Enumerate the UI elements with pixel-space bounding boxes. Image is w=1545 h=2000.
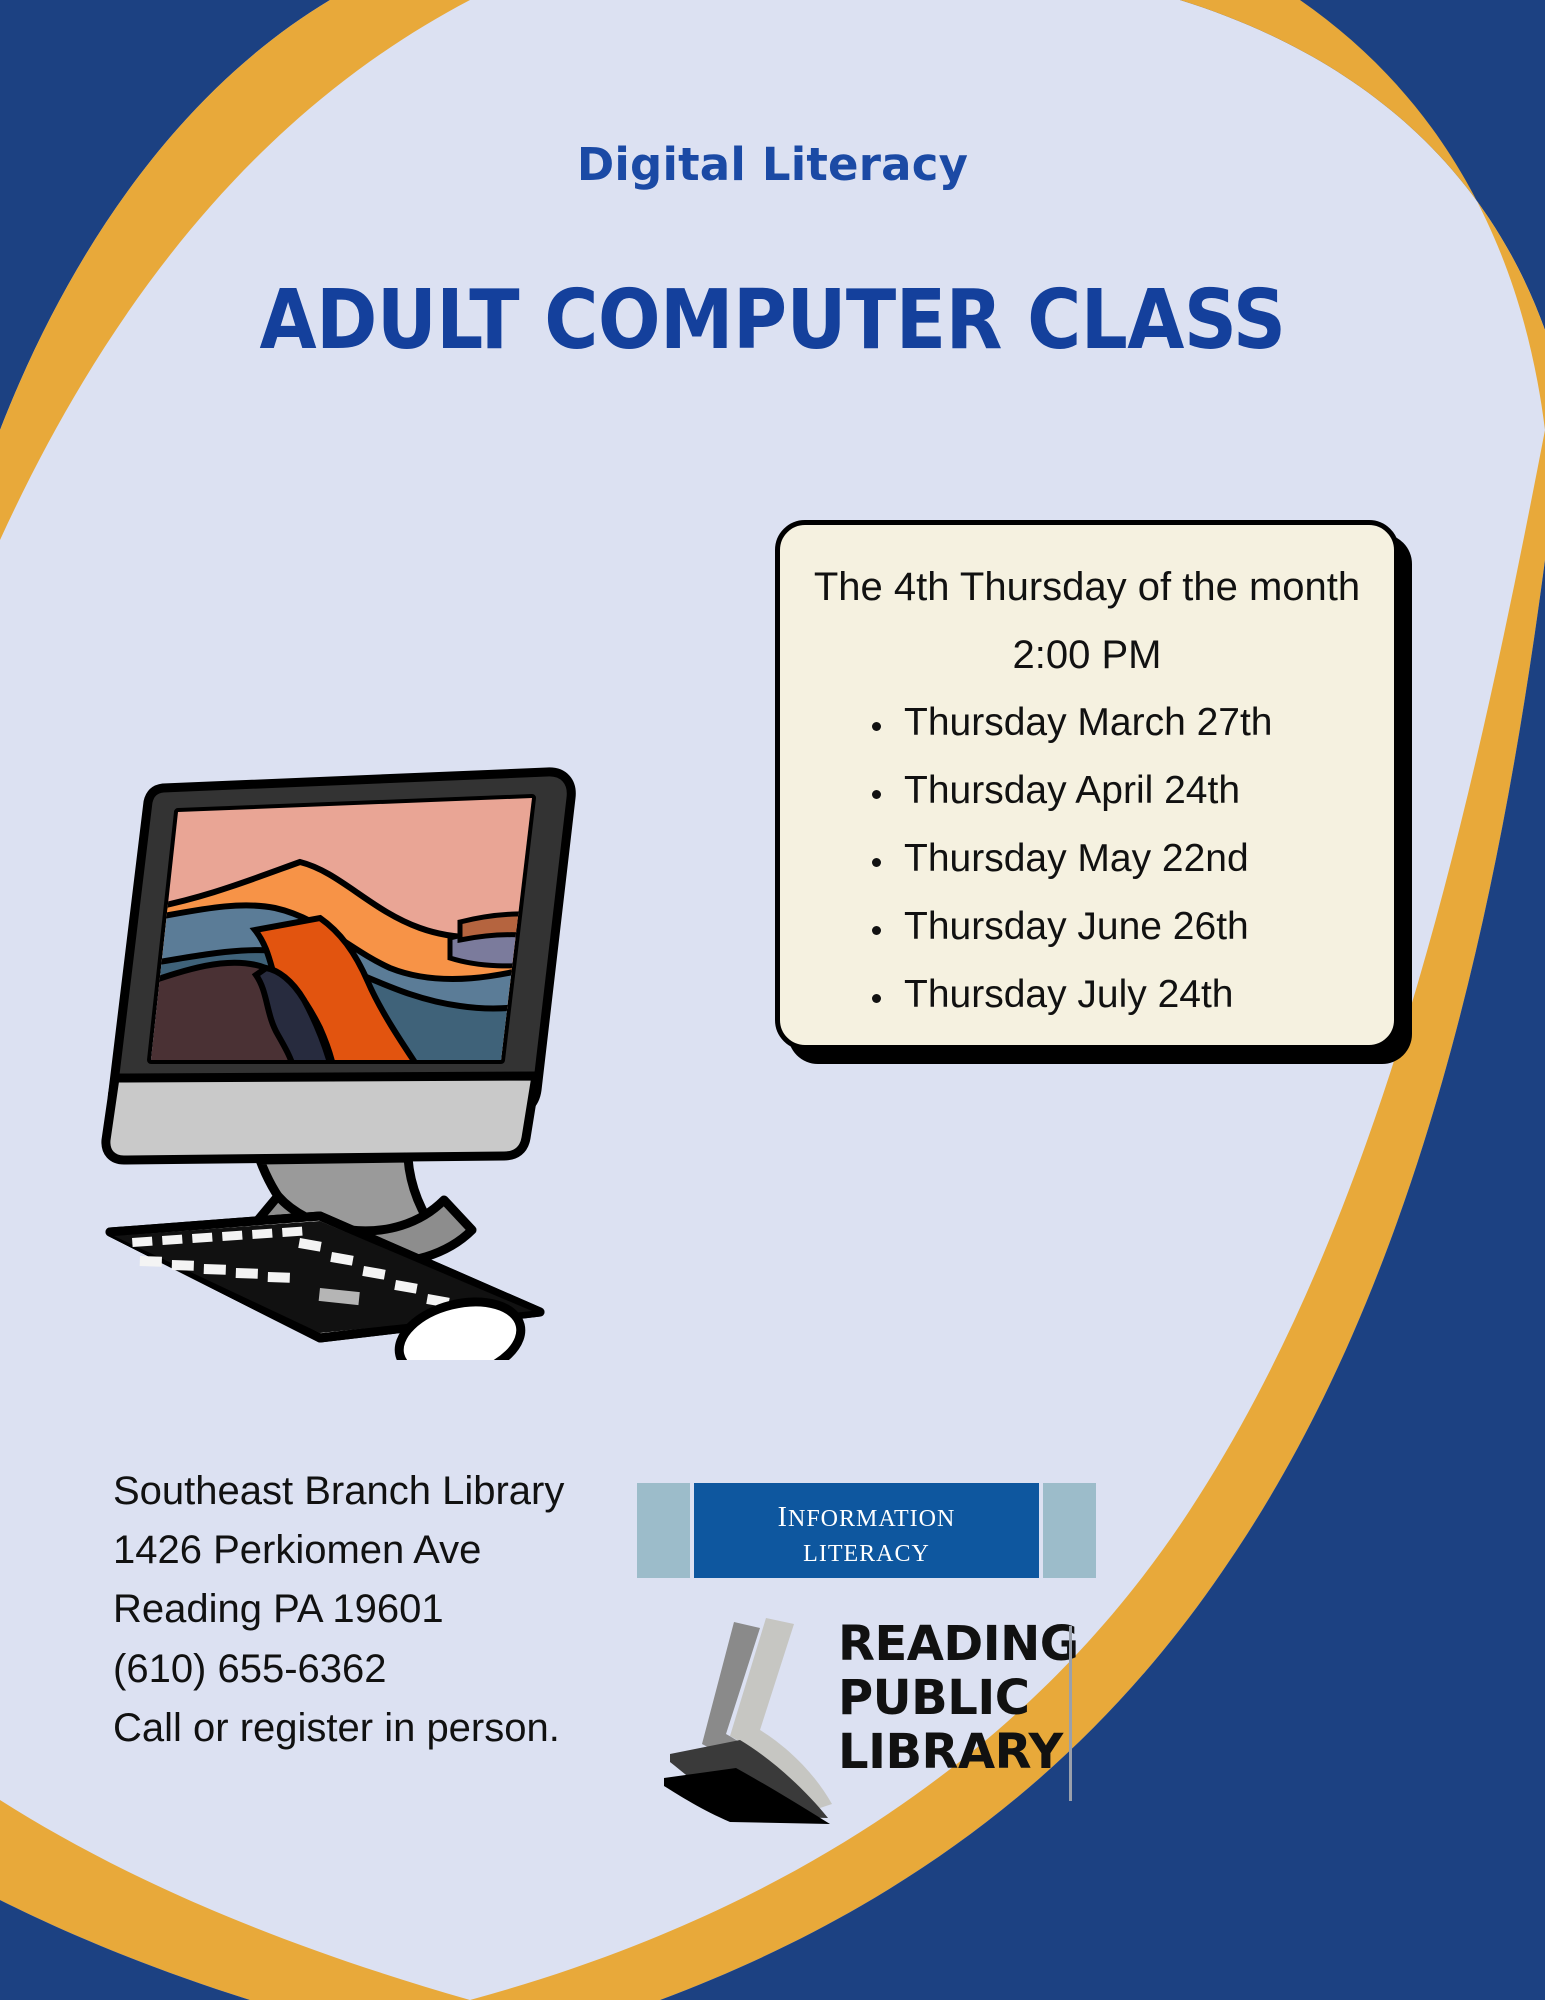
rpl-line-public: PUBLIC xyxy=(838,1672,1079,1726)
il-line-literacy: Literacy xyxy=(803,1534,930,1569)
list-item: Thursday July 24th xyxy=(868,973,1364,1017)
list-item: Thursday March 27th xyxy=(868,701,1364,745)
rpl-divider-rule xyxy=(1069,1626,1072,1801)
page-kicker: Digital Literacy xyxy=(0,138,1545,191)
street-address: 1426 Perkiomen Ave xyxy=(113,1521,673,1580)
il-right-accent-block xyxy=(1043,1483,1096,1578)
schedule-date-list: Thursday March 27th Thursday April 24th … xyxy=(810,701,1364,1017)
desktop-computer-icon xyxy=(20,760,600,1360)
phone-number: (610) 655-6362 xyxy=(113,1640,673,1699)
list-item: Thursday June 26th xyxy=(868,905,1364,949)
il-left-accent-block xyxy=(637,1483,690,1578)
rpl-wordmark: READING PUBLIC LIBRARY xyxy=(838,1618,1079,1779)
il-line-information: Information xyxy=(778,1493,956,1534)
schedule-card: The 4th Thursday of the month 2:00 PM Th… xyxy=(775,520,1399,1050)
schedule-time: 2:00 PM xyxy=(810,635,1364,675)
contact-block: Southeast Branch Library 1426 Perkiomen … xyxy=(113,1462,673,1758)
rpl-line-reading: READING xyxy=(838,1618,1079,1672)
open-book-icon xyxy=(648,1612,848,1827)
registration-note: Call or register in person. xyxy=(113,1699,673,1758)
information-literacy-logo: Information Literacy xyxy=(637,1483,1096,1578)
il-text-block: Information Literacy xyxy=(694,1483,1039,1578)
list-item: Thursday April 24th xyxy=(868,769,1364,813)
library-branch-name: Southeast Branch Library xyxy=(113,1462,673,1521)
city-state-zip: Reading PA 19601 xyxy=(113,1580,673,1639)
rpl-line-library: LIBRARY xyxy=(838,1726,1079,1780)
flyer-page: Digital Literacy ADULT COMPUTER CLASS Th… xyxy=(0,0,1545,2000)
schedule-frequency: The 4th Thursday of the month xyxy=(810,567,1364,607)
reading-public-library-logo: READING PUBLIC LIBRARY xyxy=(648,1600,1098,1850)
list-item: Thursday May 22nd xyxy=(868,837,1364,881)
page-title: ADULT COMPUTER CLASS xyxy=(0,273,1545,368)
